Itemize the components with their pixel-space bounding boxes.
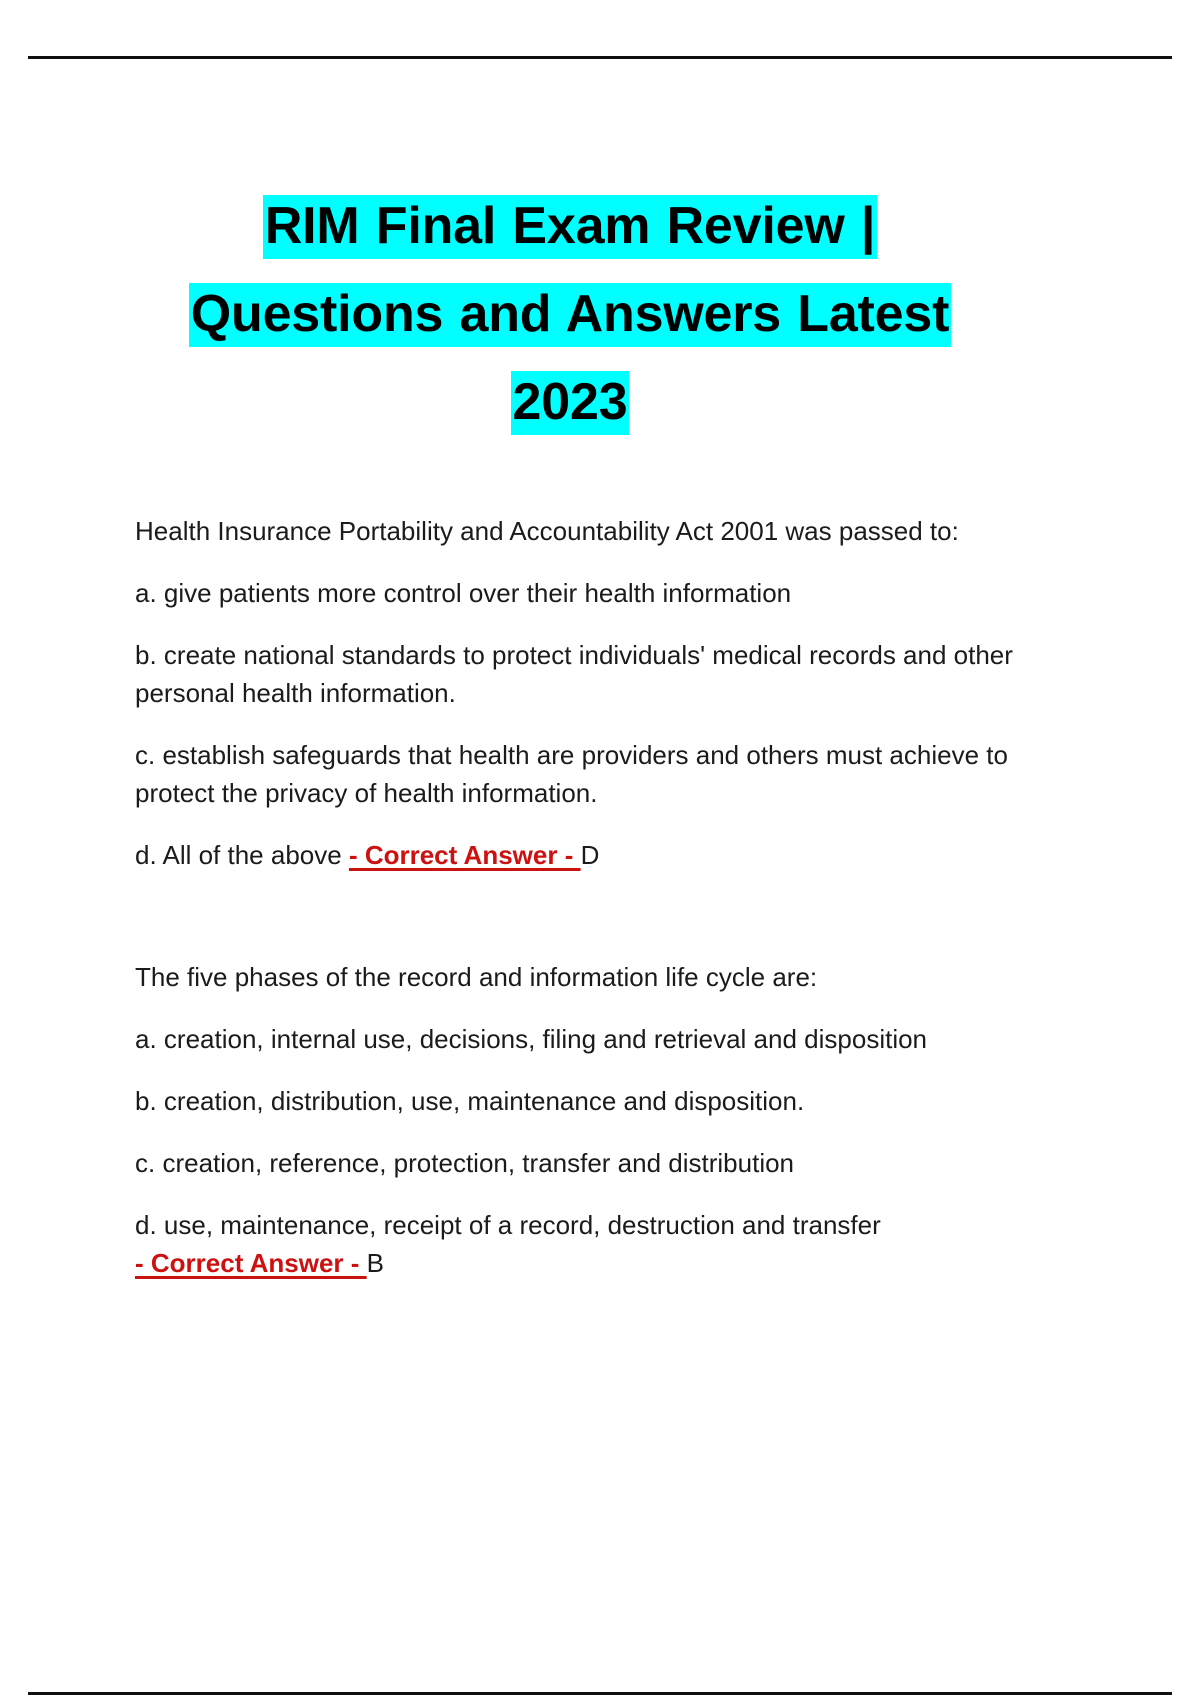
question-option: c. establish safeguards that health are … xyxy=(135,736,1015,812)
question-option: a. give patients more control over their… xyxy=(135,574,1015,612)
correct-answer-marker: - Correct Answer - xyxy=(349,840,581,870)
question-option-with-answer: d. All of the above - Correct Answer - D xyxy=(135,836,1015,874)
page-top-rule xyxy=(28,56,1172,59)
correct-answer-letter: D xyxy=(581,840,600,870)
question-block: The five phases of the record and inform… xyxy=(135,958,1015,1282)
question-option: c. creation, reference, protection, tran… xyxy=(135,1144,1015,1182)
question-option-text: d. All of the above xyxy=(135,840,349,870)
question-option-text: d. use, maintenance, receipt of a record… xyxy=(135,1210,881,1240)
page-title-line-2: Questions and Answers Latest xyxy=(189,283,951,347)
question-option: a. creation, internal use, decisions, fi… xyxy=(135,1020,1015,1058)
question-option: b. creation, distribution, use, maintena… xyxy=(135,1082,1015,1120)
question-option: b. create national standards to protect … xyxy=(135,636,1015,712)
question-separator xyxy=(135,898,1015,958)
correct-answer-marker: - Correct Answer - xyxy=(135,1248,367,1278)
question-list: Health Insurance Portability and Account… xyxy=(135,512,1015,1306)
page-title: RIM Final Exam Review | Questions and An… xyxy=(135,182,1005,446)
page-title-line-3: 2023 xyxy=(511,371,630,435)
question-block: Health Insurance Portability and Account… xyxy=(135,512,1015,874)
page-bottom-rule xyxy=(28,1692,1172,1695)
page-title-line-1: RIM Final Exam Review | xyxy=(263,195,877,259)
question-prompt: The five phases of the record and inform… xyxy=(135,958,1015,996)
correct-answer-letter: B xyxy=(367,1248,384,1278)
question-prompt: Health Insurance Portability and Account… xyxy=(135,512,1015,550)
question-option-with-answer: d. use, maintenance, receipt of a record… xyxy=(135,1206,1015,1282)
document-page: RIM Final Exam Review | Questions and An… xyxy=(0,0,1200,1700)
